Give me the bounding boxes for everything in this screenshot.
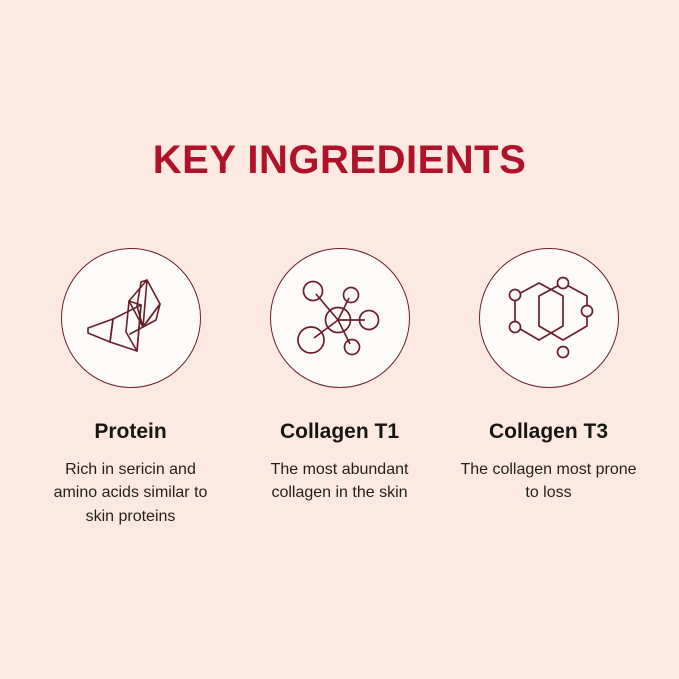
ingredient-description: Rich in sericin and amino acids similar … (48, 458, 213, 528)
hexagon-molecule-icon (503, 274, 595, 362)
ingredient-card-collagen-t1: Collagen T1 The most abundant collagen i… (235, 248, 444, 505)
molecule-node-icon (292, 270, 388, 366)
icon-circle-collagen-t1 (270, 248, 410, 388)
page-title: KEY INGREDIENTS (0, 140, 679, 180)
ingredient-label: Collagen T3 (489, 419, 608, 444)
icon-circle-collagen-t3 (479, 248, 619, 388)
icon-circle-protein (61, 248, 201, 388)
ingredient-card-collagen-t3: Collagen T3 The collagen most prone to l… (444, 248, 653, 505)
ingredient-description: The most abundant collagen in the skin (250, 458, 430, 504)
silk-ribbon-icon (83, 272, 179, 364)
ingredient-card-list: Protein Rich in sericin and amino acids … (0, 248, 679, 528)
ingredient-description: The collagen most prone to loss (459, 458, 639, 504)
ingredient-label: Protein (94, 419, 166, 444)
ingredient-label: Collagen T1 (280, 419, 399, 444)
ingredient-card-protein: Protein Rich in sericin and amino acids … (26, 248, 235, 528)
key-ingredients-poster: KEY INGREDIENTS Protein Rich (0, 0, 679, 679)
